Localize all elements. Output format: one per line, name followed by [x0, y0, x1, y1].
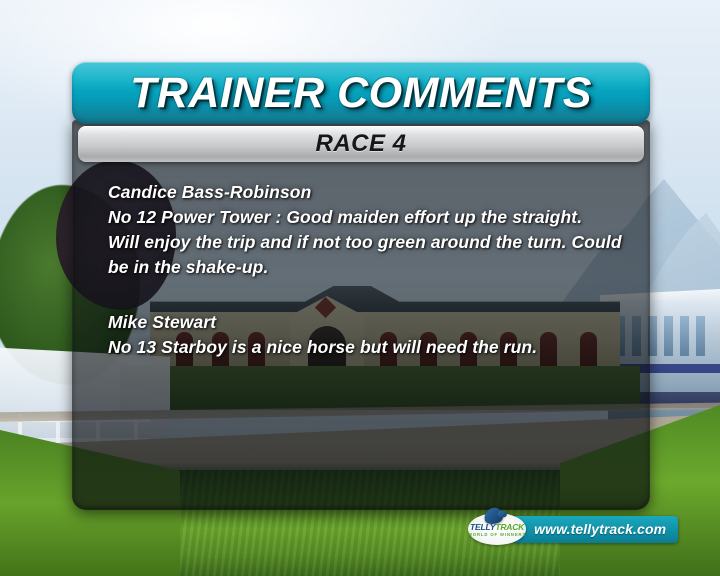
broadcast-graphic-screen: Candice Bass-Robinson No 12 Power Tower …	[0, 0, 720, 576]
grandstand-window	[664, 316, 673, 356]
grandstand-window	[680, 316, 689, 356]
trainer-comment-block: Candice Bass-Robinson No 12 Power Tower …	[108, 180, 628, 280]
comment-line: Will enjoy the trip and if not too green…	[108, 230, 628, 255]
trainer-name: Candice Bass-Robinson	[108, 180, 628, 205]
tellytrack-logo: TELLYTRACK WORLD OF WINNERS	[468, 513, 526, 545]
logo-wordmark: TELLYTRACK	[470, 523, 524, 532]
logo-tagline: WORLD OF WINNERS	[468, 532, 526, 538]
website-url-pill[interactable]: www.tellytrack.com	[512, 516, 678, 543]
race-number-label: RACE 4	[315, 130, 406, 158]
logo-word-part-2: TRACK	[495, 522, 524, 532]
website-url: www.tellytrack.com	[534, 521, 666, 537]
race-number-bar: RACE 4	[78, 126, 644, 162]
trainer-comment-block: Mike Stewart No 13 Starboy is a nice hor…	[108, 310, 628, 360]
trainer-comments-list: Candice Bass-Robinson No 12 Power Tower …	[108, 180, 628, 360]
comment-line: No 13 Starboy is a nice horse but will n…	[108, 335, 628, 360]
logo-word-part-1: TELLY	[470, 522, 495, 532]
trainer-name: Mike Stewart	[108, 310, 628, 335]
page-title: TRAINER COMMENTS	[130, 69, 592, 118]
comment-line: be in the shake-up.	[108, 255, 628, 280]
comment-line: No 12 Power Tower : Good maiden effort u…	[108, 205, 628, 230]
header-banner: TRAINER COMMENTS	[72, 62, 650, 124]
grandstand-window	[696, 316, 705, 356]
footer-branding: TELLYTRACK WORLD OF WINNERS www.tellytra…	[468, 512, 674, 546]
